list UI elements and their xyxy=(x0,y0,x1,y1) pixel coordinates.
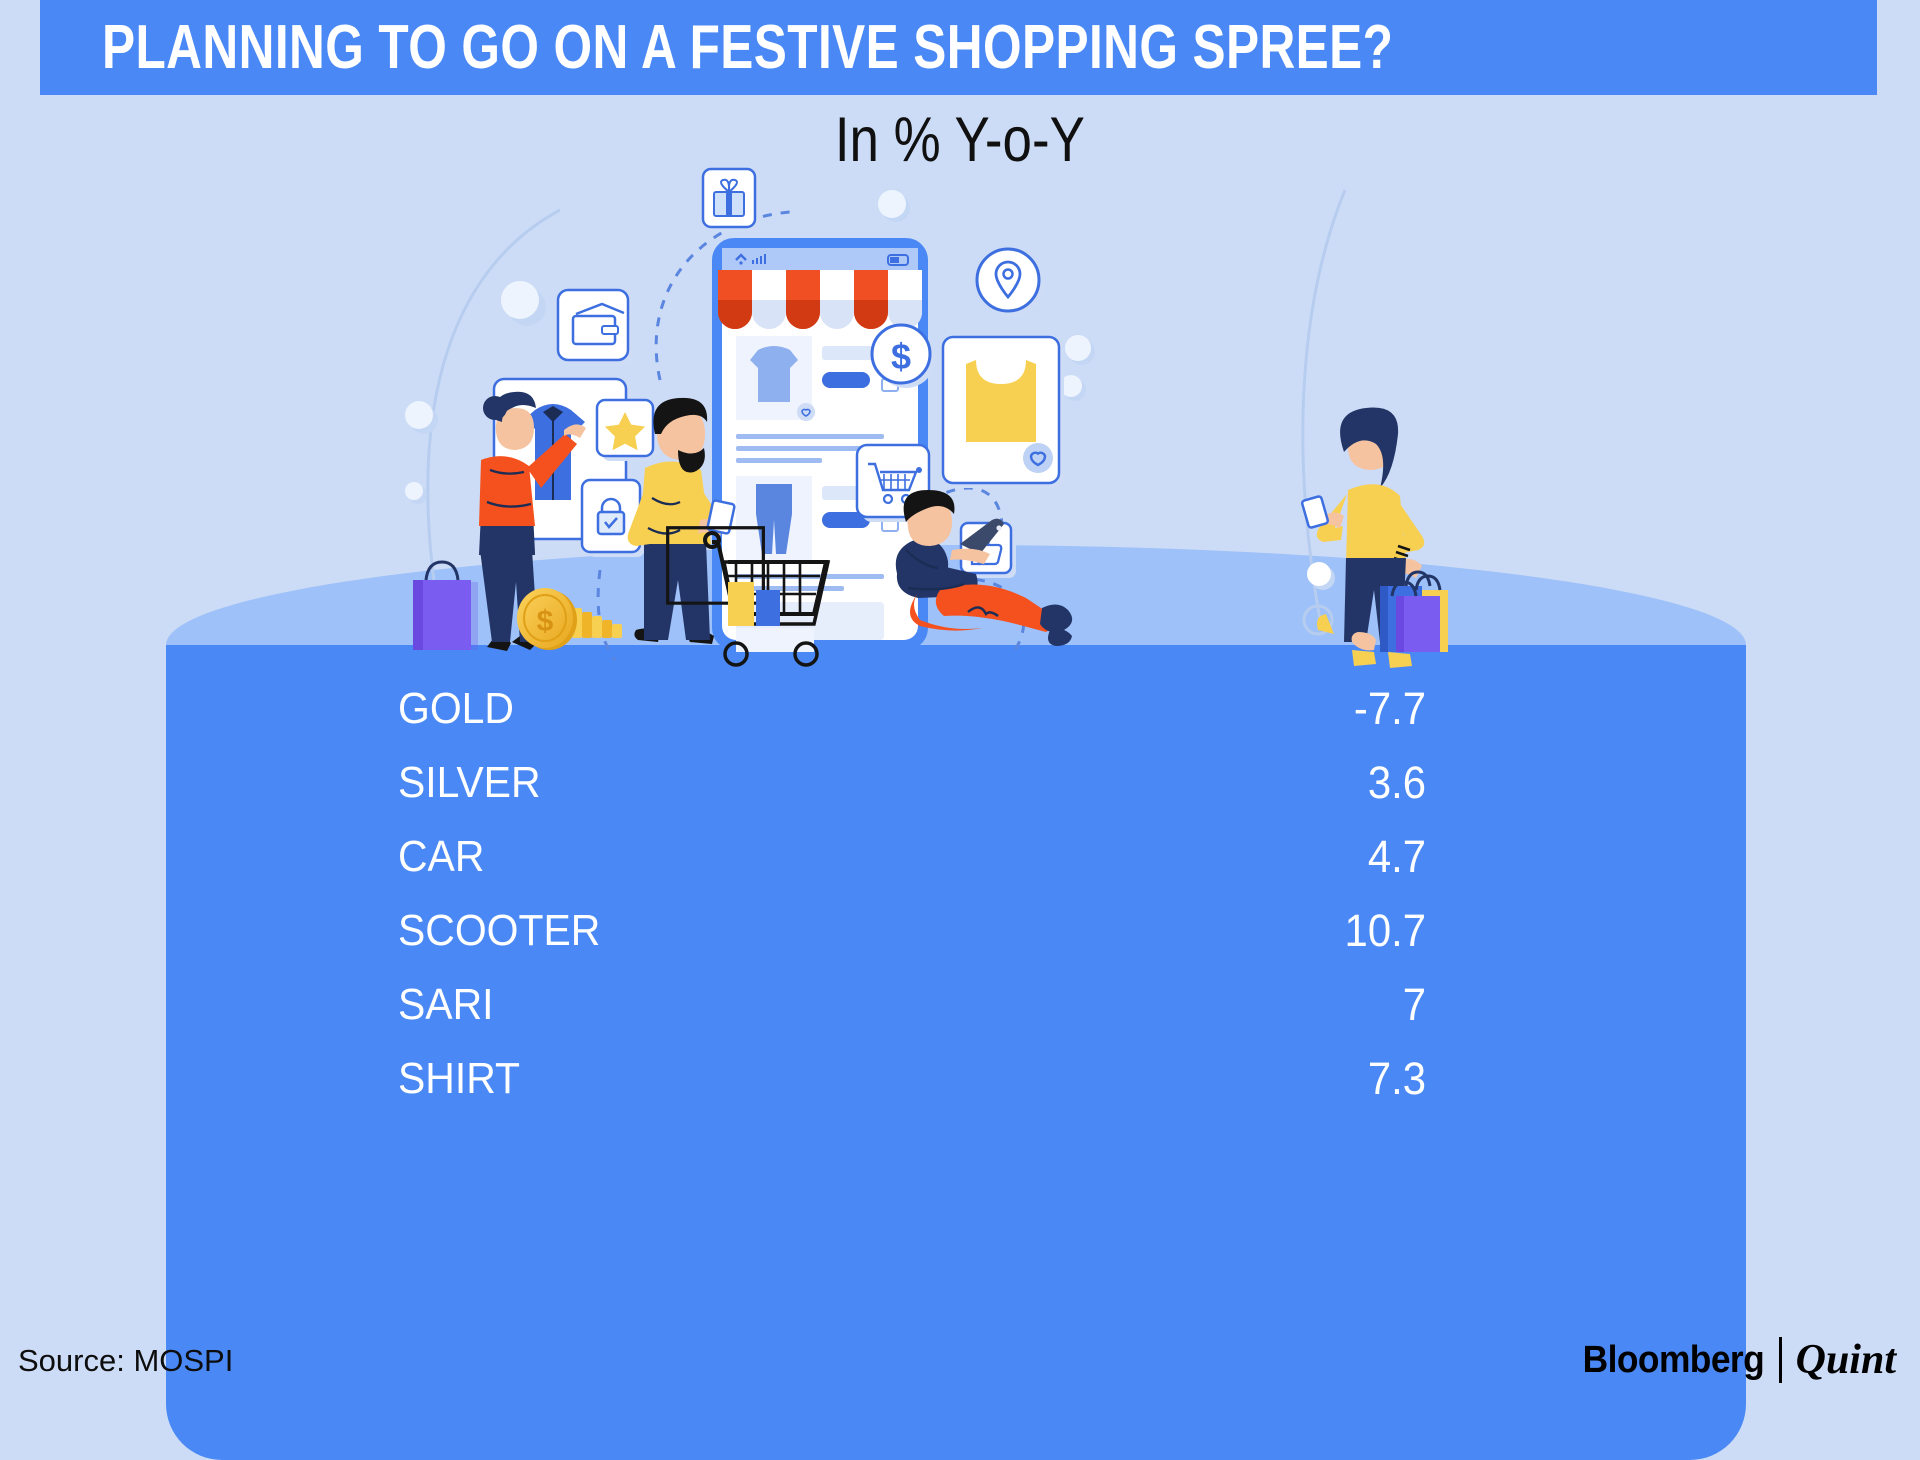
star-card-icon xyxy=(597,400,658,461)
source-note: Source: MOSPI xyxy=(18,1343,233,1379)
row-value: 10.7 xyxy=(1197,905,1426,957)
awning-icon xyxy=(718,270,922,329)
location-pin-icon xyxy=(977,249,1044,316)
woman-yellow-sweater-bags xyxy=(1302,408,1448,668)
dress-product-card xyxy=(943,337,1064,488)
row-label: CAR xyxy=(398,832,484,882)
row-label: SCOOTER xyxy=(398,906,600,956)
shopping-illustration: $ xyxy=(0,150,1920,690)
data-table: GOLD -7.7 SILVER 3.6 CAR 4.7 SCOOTER 10.… xyxy=(0,672,1920,1116)
table-row: SHIRT 7.3 xyxy=(0,1042,1920,1116)
row-label: SHIRT xyxy=(398,1054,520,1104)
brand-quint: Quint xyxy=(1796,1336,1896,1384)
brand-logo: Bloomberg Quint xyxy=(1569,1336,1896,1384)
table-row: CAR 4.7 xyxy=(0,820,1920,894)
row-value: 7 xyxy=(1197,979,1426,1031)
row-value: 3.6 xyxy=(1197,757,1426,809)
table-row: GOLD -7.7 xyxy=(0,672,1920,746)
page-title: PLANNING TO GO ON A FESTIVE SHOPPING SPR… xyxy=(102,12,1393,83)
wallet-card-icon xyxy=(558,290,633,365)
row-value: -7.7 xyxy=(1197,683,1426,735)
row-label: SILVER xyxy=(398,758,541,808)
row-label: GOLD xyxy=(398,684,514,734)
table-row: SILVER 3.6 xyxy=(0,746,1920,820)
row-label: SARI xyxy=(398,980,494,1030)
table-row: SCOOTER 10.7 xyxy=(0,894,1920,968)
shopping-bag xyxy=(413,562,478,650)
row-value: 4.7 xyxy=(1197,831,1426,883)
infographic-canvas: PLANNING TO GO ON A FESTIVE SHOPPING SPR… xyxy=(0,0,1920,1413)
brand-divider xyxy=(1779,1337,1782,1383)
brand-bloomberg: Bloomberg xyxy=(1583,1339,1765,1382)
title-band: PLANNING TO GO ON A FESTIVE SHOPPING SPR… xyxy=(40,0,1877,95)
gift-card-icon xyxy=(703,169,760,232)
row-value: 7.3 xyxy=(1197,1053,1426,1105)
table-row: SARI 7 xyxy=(0,968,1920,1042)
svg-text:$: $ xyxy=(891,336,911,377)
svg-text:$: $ xyxy=(537,605,554,638)
gold-coins: $ xyxy=(517,588,622,650)
